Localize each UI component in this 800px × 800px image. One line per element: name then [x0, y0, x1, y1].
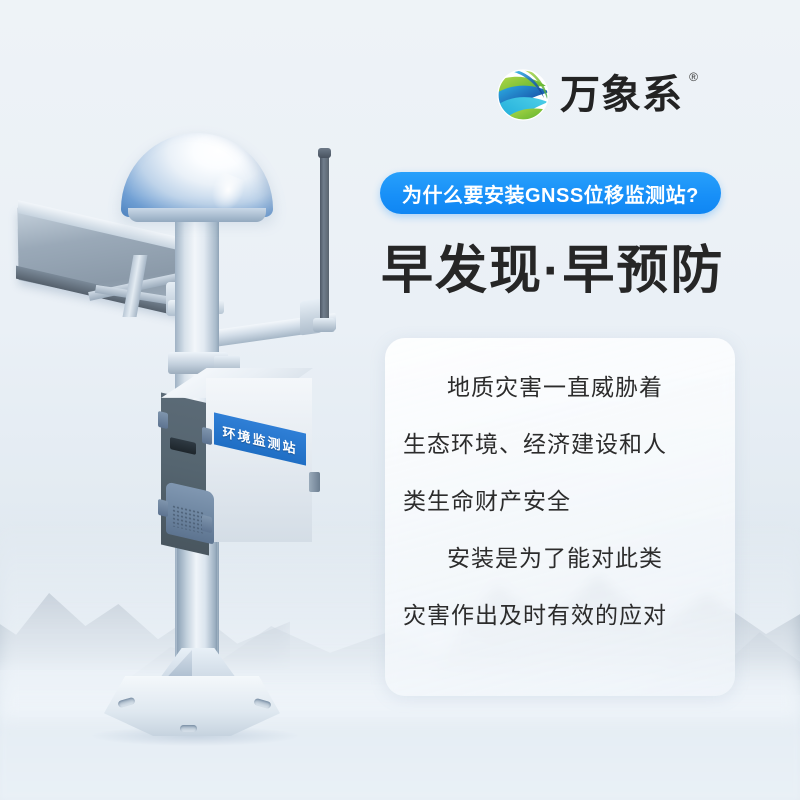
globe-swirl-logo-icon [496, 68, 550, 122]
page-title: 早发现·早预防 [381, 228, 781, 303]
description-line: 灾害作出及时有效的应对 [385, 604, 735, 627]
registered-mark-icon: ® [689, 71, 699, 83]
monitoring-station-illustration: 环境监测站 [0, 0, 400, 800]
mast-collar-bracket [214, 356, 240, 370]
enclosure-clip [202, 427, 212, 445]
base-bolt-hole [180, 725, 197, 732]
brand-name-wrap: 万象系 ® [560, 75, 683, 115]
dome-base-ring [128, 208, 266, 222]
brand-name: 万象系 [560, 73, 683, 117]
enclosure-clip [202, 515, 212, 533]
poster-canvas: 环境监测站 [0, 0, 800, 800]
description-card: 地质灾害一直威胁着 生态环境、经济建设和人 类生命财产安全 安装是为了能对此类 … [385, 338, 735, 696]
enclosure-clip [158, 411, 168, 429]
description-line: 生态环境、经济建设和人 [385, 433, 735, 456]
whip-antenna [320, 152, 329, 322]
enclosure-latch [309, 472, 320, 492]
whip-antenna-cap [318, 148, 331, 158]
question-badge[interactable]: 为什么要安装GNSS位移监测站? [380, 172, 721, 214]
brand-logo: 万象系 ® [496, 68, 683, 122]
description-line: 类生命财产安全 [385, 490, 735, 513]
question-badge-label: 为什么要安装GNSS位移监测站? [402, 179, 699, 208]
enclosure-clip [158, 499, 168, 517]
description-line: 地质灾害一直威胁着 [385, 376, 735, 399]
description-line: 安装是为了能对此类 [385, 547, 735, 570]
gnss-dome-antenna [121, 133, 273, 217]
whip-antenna-base [313, 318, 335, 332]
